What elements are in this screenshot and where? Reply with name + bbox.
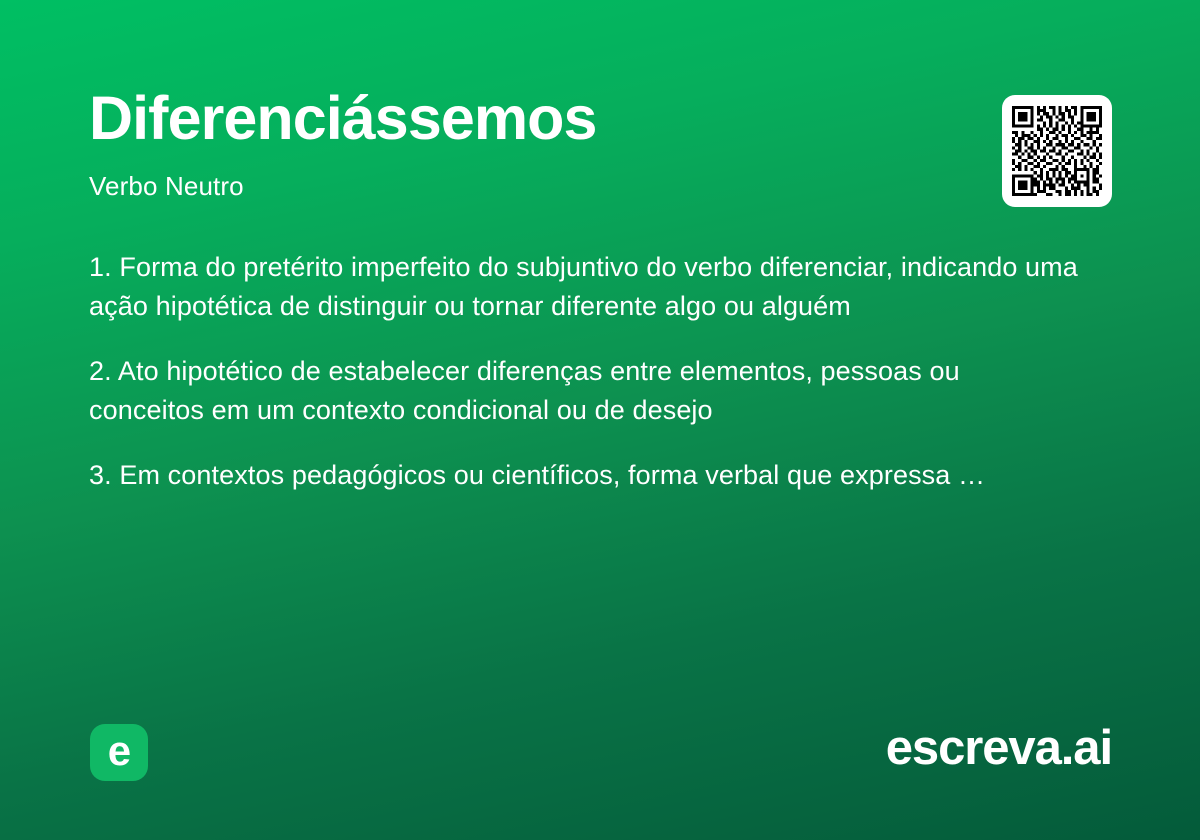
brand-wordmark: escreva.ai (886, 722, 1112, 776)
page-title: Diferenciássemos (89, 88, 969, 149)
word-class-subtitle: Verbo Neutro (89, 173, 969, 199)
definition-item-1: 1. Forma do pretérito imperfeito do subj… (89, 248, 1079, 325)
definitions-list: 1. Forma do pretérito imperfeito do subj… (89, 248, 1079, 495)
definition-item-3: 3. Em contextos pedagógicos ou científic… (89, 456, 1079, 495)
qr-code-icon (1012, 106, 1102, 196)
logo-letter-e: e (108, 730, 131, 772)
qr-code-card[interactable] (1002, 95, 1112, 207)
brand-logo-mark: e (90, 724, 148, 781)
headline-block: Diferenciássemos Verbo Neutro (89, 88, 969, 199)
definition-item-2: 2. Ato hipotético de estabelecer diferen… (89, 352, 1079, 429)
definition-card: Diferenciássemos Verbo Neutro (0, 0, 1200, 840)
